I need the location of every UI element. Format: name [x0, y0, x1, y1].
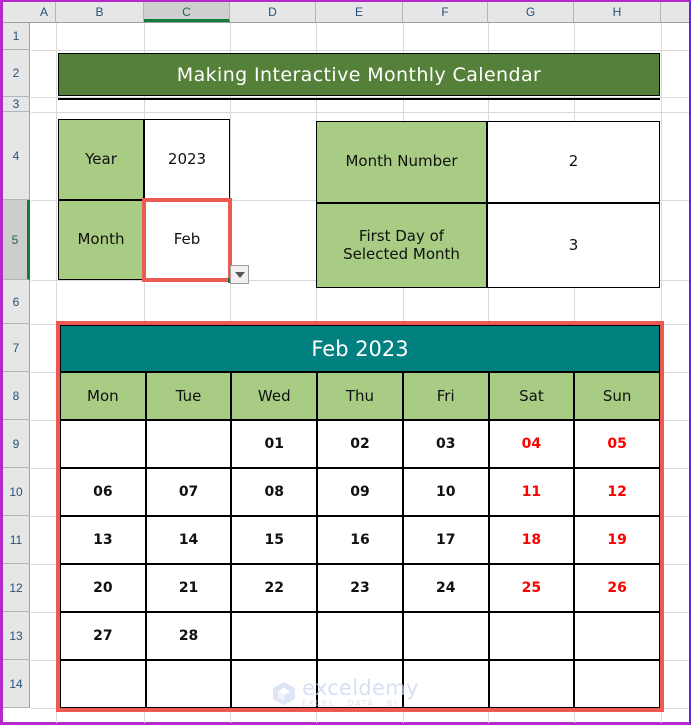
calendar-day-cell[interactable]: 22 [231, 564, 317, 612]
month-label-text: Month [77, 231, 124, 248]
calendar-title-text: Feb 2023 [311, 337, 408, 361]
excel-worksheet[interactable]: ABCDEFGH 1234567891011121314 Making Inte… [0, 0, 691, 725]
column-header-f[interactable]: F [403, 2, 488, 22]
calendar-empty-cell[interactable] [317, 612, 403, 660]
calendar-empty-cell[interactable] [489, 660, 575, 708]
column-header-b[interactable]: B [56, 2, 144, 22]
title-underline [58, 98, 660, 100]
weekday-header-wed: Wed [231, 372, 317, 420]
year-label-cell: Year [58, 119, 144, 200]
row-header-3[interactable]: 3 [3, 97, 30, 112]
calendar-day-cell[interactable]: 24 [403, 564, 489, 612]
row-header-8[interactable]: 8 [3, 372, 30, 420]
calendar-title-bar: Feb 2023 [60, 325, 660, 372]
row-header-12[interactable]: 12 [3, 564, 30, 612]
calendar-empty-cell[interactable] [146, 420, 232, 468]
calendar-day-cell[interactable]: 18 [489, 516, 575, 564]
calendar-day-cell[interactable]: 07 [146, 468, 232, 516]
gridline-vertical [661, 23, 662, 723]
gridline-horizontal [31, 50, 689, 51]
calendar-empty-cell[interactable] [574, 660, 660, 708]
row-header-5[interactable]: 5 [3, 200, 30, 280]
row-header-4[interactable]: 4 [3, 112, 30, 200]
calendar-day-cell[interactable]: 23 [317, 564, 403, 612]
year-value-text: 2023 [168, 151, 206, 168]
calendar-day-cell[interactable]: 17 [403, 516, 489, 564]
calendar-day-cell[interactable]: 28 [146, 612, 232, 660]
calendar-day-cell[interactable]: 05 [574, 420, 660, 468]
month-number-label-cell: Month Number [316, 121, 487, 203]
calendar-day-cell[interactable]: 26 [574, 564, 660, 612]
row-header-9[interactable]: 9 [3, 420, 30, 468]
column-header-h[interactable]: H [574, 2, 661, 22]
calendar-day-cell[interactable]: 16 [317, 516, 403, 564]
column-header-c[interactable]: C [144, 2, 230, 22]
year-label-text: Year [85, 151, 117, 168]
month-number-label-text: Month Number [345, 153, 457, 170]
calendar-empty-cell[interactable] [403, 612, 489, 660]
weekday-header-mon: Mon [60, 372, 146, 420]
first-day-value-cell[interactable]: 3 [487, 203, 660, 288]
calendar-day-cell[interactable]: 04 [489, 420, 575, 468]
column-header-a[interactable]: A [33, 2, 56, 22]
month-value-cell[interactable]: Feb [144, 200, 230, 280]
row-header-11[interactable]: 11 [3, 516, 30, 564]
row-header-2[interactable]: 2 [3, 50, 30, 97]
first-day-value-text: 3 [569, 237, 579, 254]
calendar-day-cell[interactable]: 11 [489, 468, 575, 516]
column-header-g[interactable]: G [488, 2, 574, 22]
column-header-e[interactable]: E [316, 2, 403, 22]
calendar-empty-cell[interactable] [231, 660, 317, 708]
gridline-vertical [56, 23, 57, 723]
calendar-day-cell[interactable]: 19 [574, 516, 660, 564]
month-number-value-cell[interactable]: 2 [487, 121, 660, 203]
chevron-down-icon [235, 272, 245, 278]
calendar-day-cell[interactable]: 13 [60, 516, 146, 564]
calendar-day-cell[interactable]: 03 [403, 420, 489, 468]
year-value-cell[interactable]: 2023 [144, 119, 230, 200]
month-dropdown-button[interactable] [230, 265, 249, 284]
row-header-7[interactable]: 7 [3, 324, 30, 372]
calendar-day-cell[interactable]: 21 [146, 564, 232, 612]
calendar-day-cell[interactable]: 15 [231, 516, 317, 564]
month-label-cell: Month [58, 200, 144, 280]
calendar-empty-cell[interactable] [60, 660, 146, 708]
row-header-10[interactable]: 10 [3, 468, 30, 516]
column-header-row: ABCDEFGH [3, 2, 689, 23]
calendar-day-cell[interactable]: 27 [60, 612, 146, 660]
calendar-day-cell[interactable]: 06 [60, 468, 146, 516]
row-header-1[interactable]: 1 [3, 23, 30, 50]
weekday-header-sat: Sat [489, 372, 575, 420]
weekday-header-sun: Sun [574, 372, 660, 420]
row-header-13[interactable]: 13 [3, 612, 30, 660]
first-day-label-cell: First Day of Selected Month [316, 203, 487, 288]
calendar-empty-cell[interactable] [403, 660, 489, 708]
calendar-day-cell[interactable]: 14 [146, 516, 232, 564]
sheet-title-text: Making Interactive Monthly Calendar [177, 64, 541, 86]
calendar-day-cell[interactable]: 10 [403, 468, 489, 516]
calendar-day-cell[interactable]: 20 [60, 564, 146, 612]
calendar-empty-cell[interactable] [317, 660, 403, 708]
first-day-label-text: First Day of Selected Month [325, 228, 478, 263]
month-value-text: Feb [174, 231, 201, 248]
calendar-day-cell[interactable]: 08 [231, 468, 317, 516]
calendar-empty-cell[interactable] [60, 420, 146, 468]
gridline-horizontal [31, 708, 689, 709]
calendar-day-cell[interactable]: 01 [231, 420, 317, 468]
month-number-value-text: 2 [569, 153, 579, 170]
calendar-empty-cell[interactable] [489, 612, 575, 660]
calendar-empty-cell[interactable] [146, 660, 232, 708]
calendar-day-cell[interactable]: 25 [489, 564, 575, 612]
gridline-horizontal [31, 112, 689, 113]
calendar-empty-cell[interactable] [231, 612, 317, 660]
calendar-day-cell[interactable]: 02 [317, 420, 403, 468]
weekday-header-tue: Tue [146, 372, 232, 420]
calendar-day-cell[interactable]: 09 [317, 468, 403, 516]
sheet-title-banner: Making Interactive Monthly Calendar [58, 53, 660, 96]
weekday-header-fri: Fri [403, 372, 489, 420]
calendar-empty-cell[interactable] [574, 612, 660, 660]
row-header-14[interactable]: 14 [3, 660, 30, 708]
column-header-d[interactable]: D [230, 2, 316, 22]
weekday-header-thu: Thu [317, 372, 403, 420]
row-header-6[interactable]: 6 [3, 280, 30, 324]
calendar-day-cell[interactable]: 12 [574, 468, 660, 516]
